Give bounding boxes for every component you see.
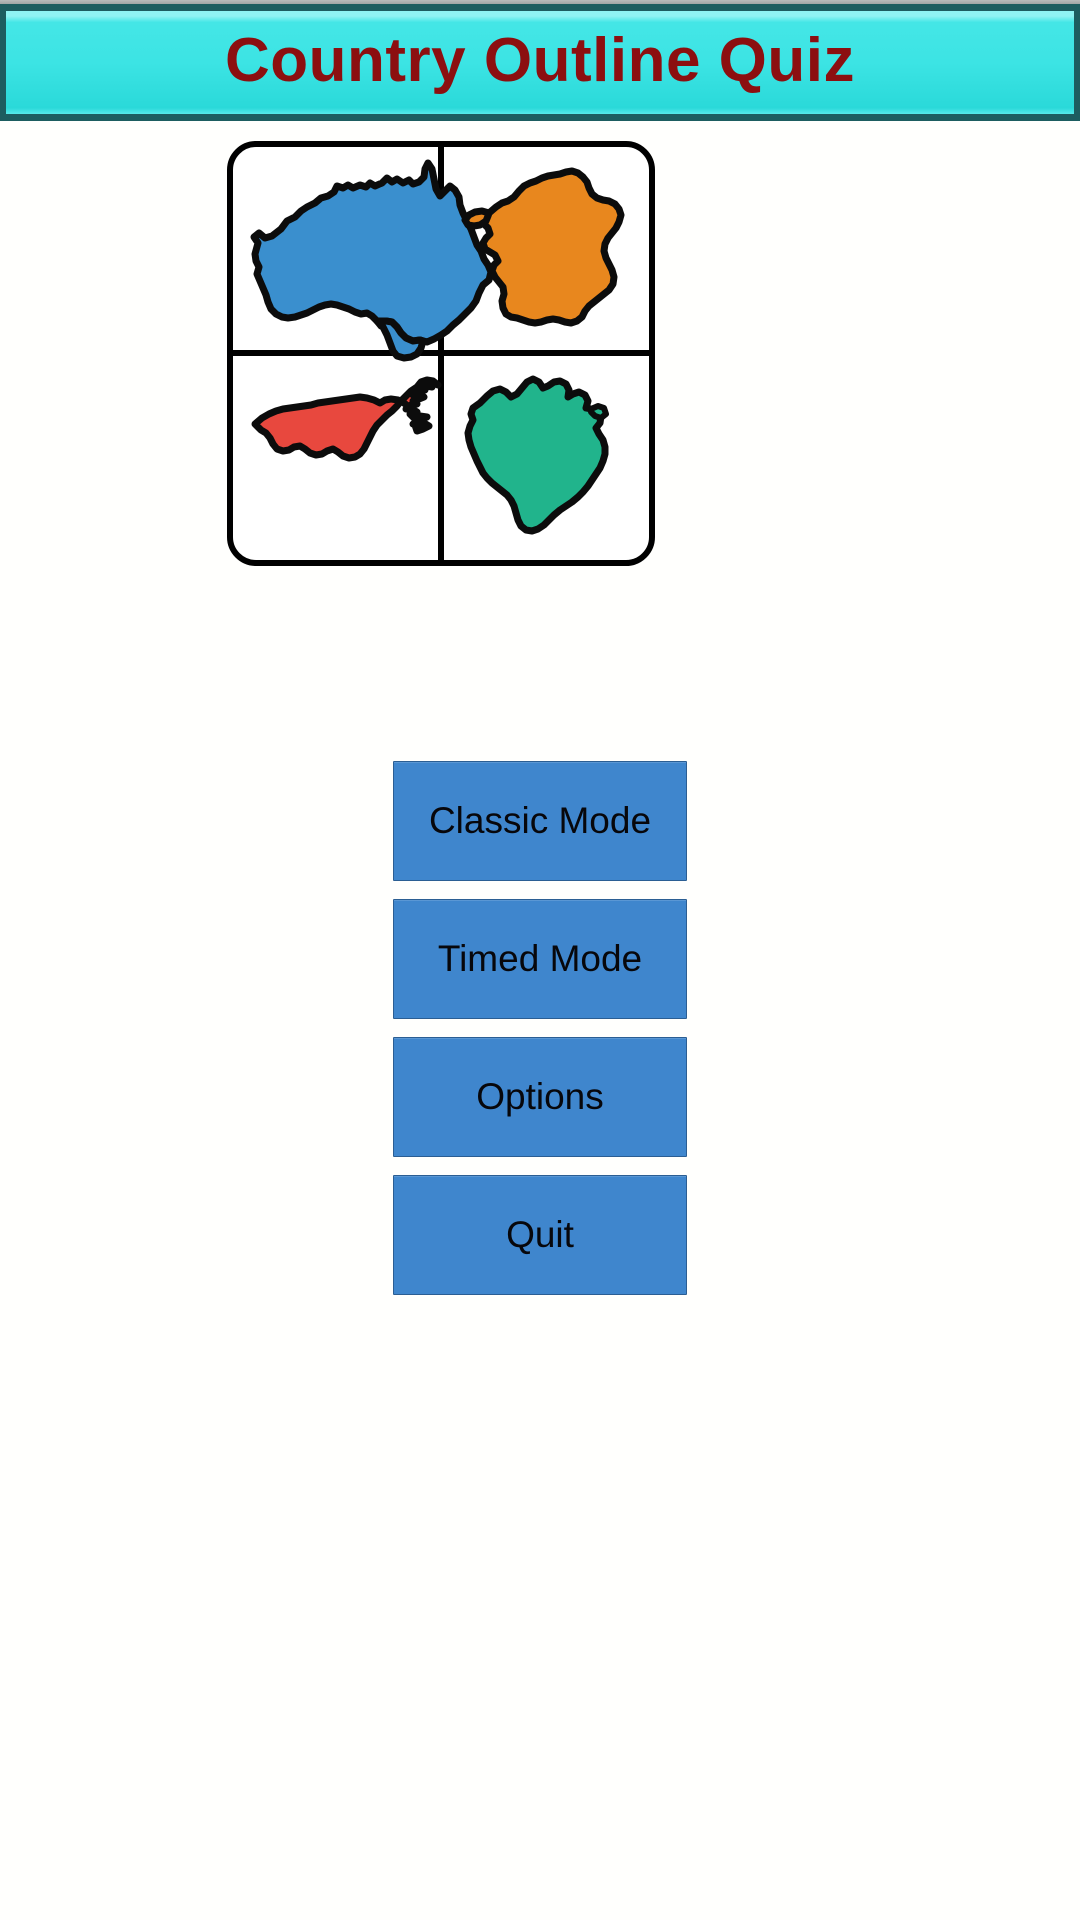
- classic-mode-button-label: Classic Mode: [394, 802, 686, 839]
- timed-mode-button[interactable]: Timed Mode: [393, 899, 687, 1019]
- quit-button-label: Quit: [394, 1216, 686, 1253]
- app-logo: [227, 141, 655, 566]
- options-button[interactable]: Options: [393, 1037, 687, 1157]
- brazil-northeast-nub: [591, 406, 606, 418]
- main-menu: Classic Mode Timed Mode Options Quit: [0, 761, 1080, 1295]
- country-outline-grid-icon: [227, 141, 655, 566]
- quit-button[interactable]: Quit: [393, 1175, 687, 1295]
- app-header-bar: Country Outline Quiz: [0, 4, 1080, 121]
- page-title: Country Outline Quiz: [225, 30, 855, 92]
- france-brittany-tip: [465, 211, 489, 226]
- classic-mode-button[interactable]: Classic Mode: [393, 761, 687, 881]
- timed-mode-button-label: Timed Mode: [394, 940, 686, 977]
- options-button-label: Options: [394, 1078, 686, 1115]
